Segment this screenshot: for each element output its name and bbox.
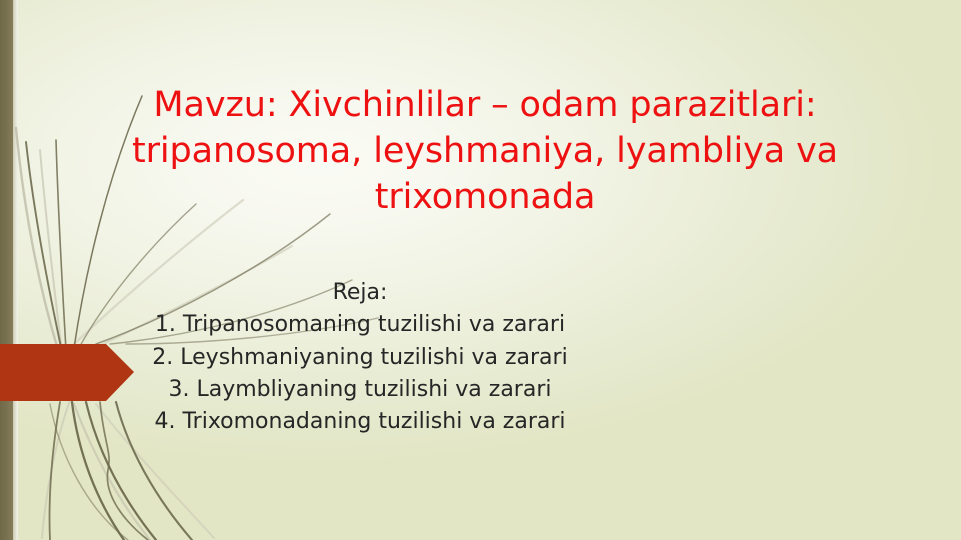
- list-item: 3. Laymbliyaning tuzilishi va zarari: [60, 374, 660, 406]
- agenda-list: 1. Tripanosomaning tuzilishi va zarari 2…: [60, 309, 660, 438]
- list-item: 4. Trixomonadaning tuzilishi va zarari: [60, 406, 660, 438]
- slide-body: Reja: 1. Tripanosomaning tuzilishi va za…: [60, 277, 660, 439]
- grass-stems-ornament: [0, 0, 961, 540]
- left-olive-stripe: [0, 0, 13, 540]
- slide-title: Mavzu: Xivchinlilar – odam parazitlari: …: [70, 82, 900, 221]
- body-heading: Reja:: [60, 277, 660, 309]
- list-item: 1. Tripanosomaning tuzilishi va zarari: [60, 309, 660, 341]
- slide-canvas: Mavzu: Xivchinlilar – odam parazitlari: …: [0, 0, 961, 540]
- list-item: 2. Leyshmaniyaning tuzilishi va zarari: [60, 342, 660, 374]
- left-stripe-highlight: [13, 0, 18, 540]
